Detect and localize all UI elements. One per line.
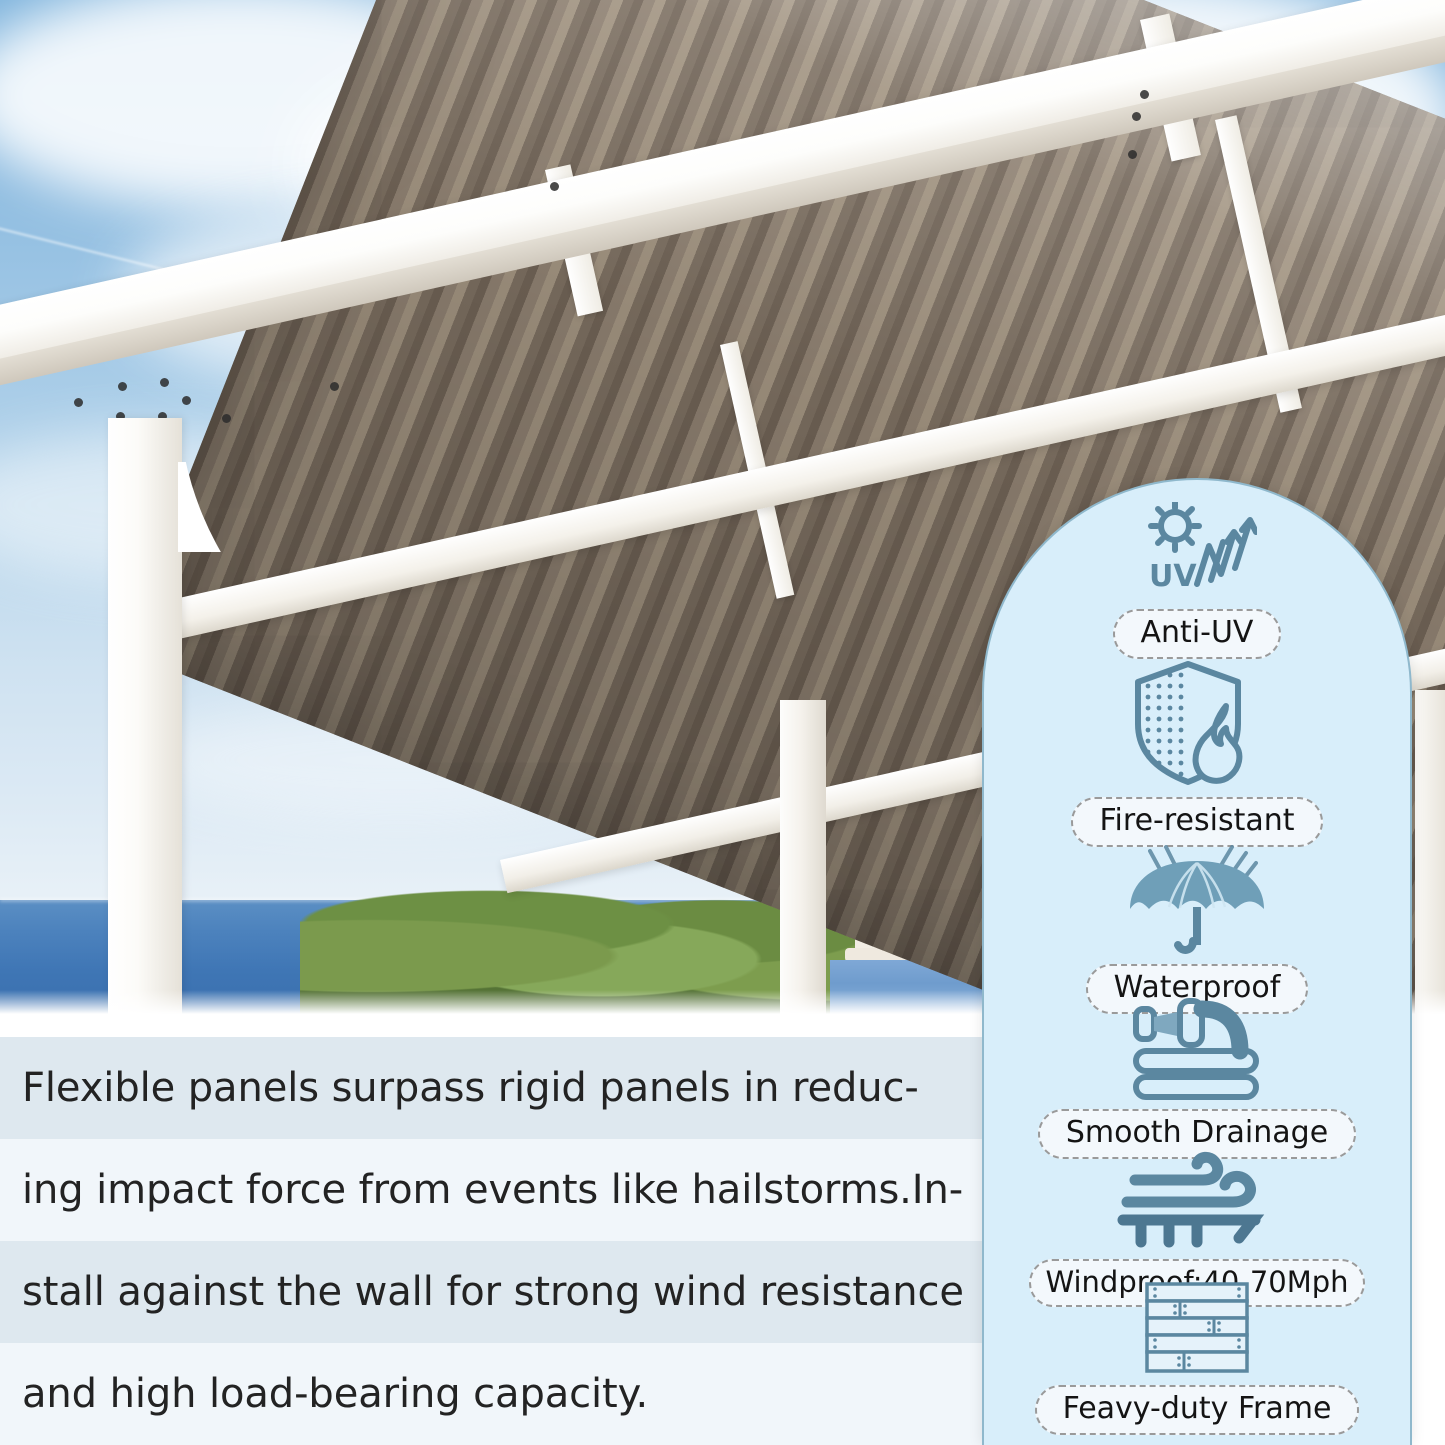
description-line: Flexible panels surpass rigid panels in … [0, 1037, 1059, 1139]
bolt [118, 382, 127, 391]
uv-sun-icon: UV [1137, 502, 1257, 605]
support-post [780, 700, 826, 1014]
bolt [1132, 112, 1141, 121]
feature-anti-uv: UV Anti-UV [984, 502, 1410, 659]
hose-icon [1122, 995, 1272, 1105]
support-post [1415, 690, 1445, 1014]
features-panel: UV Anti-UV [982, 478, 1412, 1445]
bolt [160, 378, 169, 387]
description-line: ing impact force from events like hailst… [0, 1139, 1059, 1241]
bolt [330, 382, 339, 391]
bolt [550, 182, 559, 191]
feature-waterproof: Waterproof [984, 845, 1410, 1014]
feature-fire-resistant: Fire-resistant [984, 660, 1410, 847]
corner-bracket [178, 392, 338, 552]
feature-smooth-drainage: Smooth Drainage [984, 995, 1410, 1159]
umbrella-rain-icon [1122, 845, 1272, 960]
description-line: stall against the wall for strong wind r… [0, 1241, 1059, 1343]
feature-label: Feavy-duty Frame [1035, 1385, 1360, 1435]
feature-label: Anti-UV [1113, 609, 1282, 659]
svg-text:UV: UV [1149, 559, 1197, 594]
bolt [1128, 150, 1137, 159]
bolt [74, 398, 83, 407]
wind-icon [1117, 1150, 1277, 1255]
product-image-canvas: Flexible panels surpass rigid panels in … [0, 0, 1445, 1445]
support-column [108, 418, 182, 1014]
description-text-block: Flexible panels surpass rigid panels in … [0, 1037, 1059, 1445]
frame-panels-icon [1142, 1280, 1252, 1381]
feature-label: Fire-resistant [1071, 797, 1322, 847]
bolt [1140, 90, 1149, 99]
description-line: and high load-bearing capacity. [0, 1343, 1059, 1445]
shield-flame-icon [1122, 660, 1272, 793]
feature-heavy-duty-frame: Feavy-duty Frame [984, 1280, 1410, 1435]
